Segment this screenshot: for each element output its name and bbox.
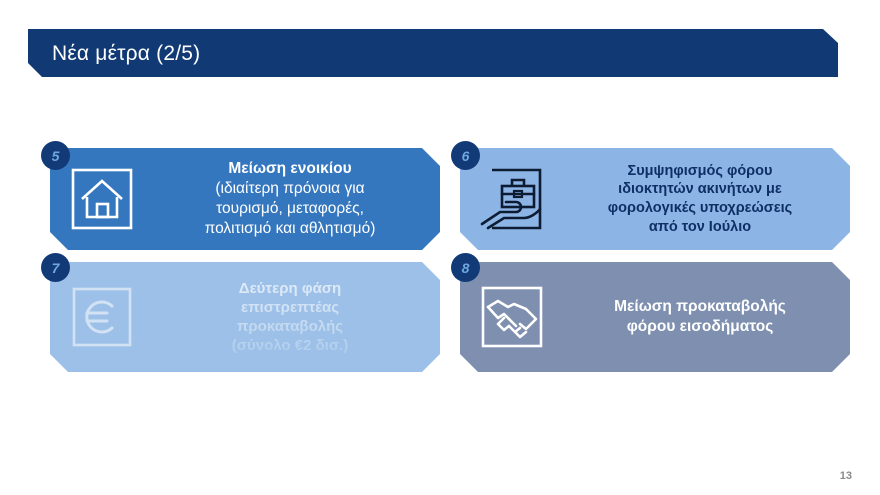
card-8-line-2: φόρου εισοδήματος	[564, 317, 836, 337]
card-number-badge-5: 5	[41, 141, 70, 170]
card-7-line-4: (σύνολο €2 δισ.)	[154, 336, 426, 355]
measure-card-7[interactable]: Δεύτερη φάση επιστρεπτέας προκαταβολής (…	[50, 262, 440, 372]
page-title: Νέα μέτρα (2/5)	[28, 43, 200, 64]
card-5-line-4: πολιτισμό και αθλητισμό)	[154, 219, 426, 239]
slide-canvas: Νέα μέτρα (2/5) Μείωση ενοικίου (ιδιαίτε…	[0, 0, 880, 495]
card-6-line-4: από τον Ιούλιο	[564, 218, 836, 237]
measure-card-5[interactable]: Μείωση ενοικίου (ιδιαίτερη πρόνοια για τ…	[50, 148, 440, 250]
house-icon	[50, 167, 154, 231]
card-5-line-1: Μείωση ενοικίου	[154, 159, 426, 179]
card-6-line-1: Συμψηφισμός φόρου	[564, 162, 836, 181]
measure-card-8-text: Μείωση προκαταβολής φόρου εισοδήματος	[564, 297, 850, 337]
measure-card-6[interactable]: Συμψηφισμός φόρου ιδιοκτητών ακινήτων με…	[460, 148, 850, 250]
card-7-line-1: Δεύτερη φάση	[154, 279, 426, 298]
card-7-line-3: προκαταβολής	[154, 317, 426, 336]
measure-card-7-text: Δεύτερη φάση επιστρεπτέας προκαταβολής (…	[154, 279, 440, 356]
card-6-line-2: ιδιοκτητών ακινήτων με	[564, 180, 836, 199]
card-7-line-2: επιστρεπτέας	[154, 298, 426, 317]
page-number: 13	[840, 470, 852, 482]
measure-card-8[interactable]: Μείωση προκαταβολής φόρου εισοδήματος	[460, 262, 850, 372]
euro-icon	[50, 286, 154, 348]
card-8-line-1: Μείωση προκαταβολής	[564, 297, 836, 317]
measure-card-5-text: Μείωση ενοικίου (ιδιαίτερη πρόνοια για τ…	[154, 159, 440, 238]
slide-title-banner: Νέα μέτρα (2/5)	[28, 29, 838, 77]
card-6-line-3: φορολογικές υποχρεώσεις	[564, 199, 836, 218]
card-5-line-3: τουρισμό, μεταφορές,	[154, 199, 426, 219]
card-number-badge-8: 8	[451, 253, 480, 282]
measure-card-6-text: Συμψηφισμός φόρου ιδιοκτητών ακινήτων με…	[564, 162, 850, 236]
card-5-line-2: (ιδιαίτερη πρόνοια για	[154, 179, 426, 199]
card-number-badge-7: 7	[41, 253, 70, 282]
handshake-icon	[460, 285, 564, 349]
card-number-badge-6: 6	[451, 141, 480, 170]
hand-briefcase-icon	[460, 167, 564, 231]
